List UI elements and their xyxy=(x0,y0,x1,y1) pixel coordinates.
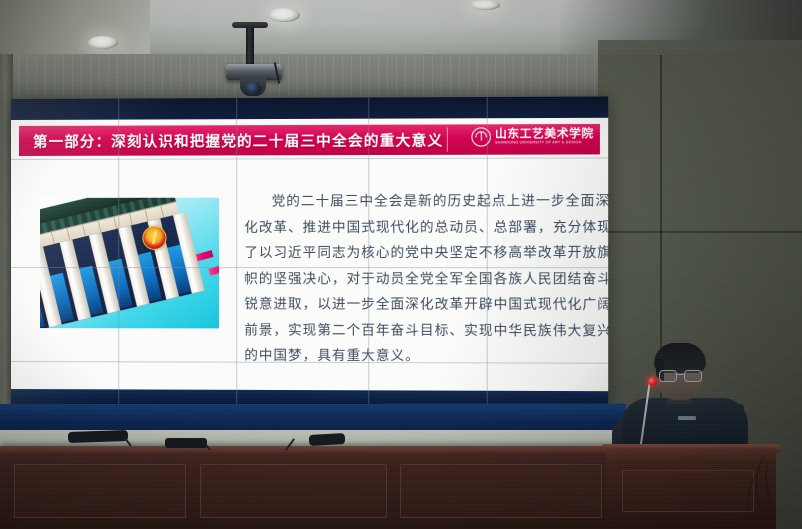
banner-divider xyxy=(447,127,448,151)
desk-microphone-icon xyxy=(165,438,207,448)
slide-body-line: 的中国梦，具有重大意义。 xyxy=(244,344,600,371)
slide-body-line: 党的二十届三中全会是新的历史起点上进一步全面深 xyxy=(244,189,600,215)
led-video-wall[interactable]: 第一部分：深刻认识和把握党的二十届三中全会的重大意义 山东工艺美术学院 SHAN… xyxy=(11,96,608,413)
microphone-indicator-icon xyxy=(648,377,657,386)
laptop-logo-icon xyxy=(678,416,696,420)
university-logo-text: 山东工艺美术学院 SHANDONG UNIVERSITY OF ART & DE… xyxy=(495,128,594,145)
desk-microphone-icon xyxy=(68,430,128,443)
slide-body-line: 前景，实现第二个百年奋斗目标、实现中华民族伟大复兴 xyxy=(244,318,600,345)
slide-body-text: 党的二十届三中全会是新的历史起点上进一步全面深 化改革、推进中国式现代化的总动员… xyxy=(244,189,600,370)
desk-panel xyxy=(14,464,186,518)
glasses-bridge xyxy=(676,374,684,375)
screenshot-stage: 第一部分：深刻认识和把握党的二十届三中全会的重大意义 山东工艺美术学院 SHAN… xyxy=(0,0,802,529)
podium-front-panel xyxy=(622,470,754,512)
glasses-lens-right xyxy=(684,370,702,382)
slide-body-line: 了以习近平同志为核心的党中央坚定不移高举改革开放旗 xyxy=(244,241,600,267)
projector-lens-icon xyxy=(240,78,266,96)
projector-pole xyxy=(246,27,254,67)
ceiling-downlight-icon xyxy=(470,0,500,10)
desk-microphone-icon xyxy=(309,433,346,446)
university-emblem-icon xyxy=(471,127,490,146)
slide-banner: 第一部分：深刻认识和把握党的二十届三中全会的重大意义 山东工艺美术学院 SHAN… xyxy=(19,124,600,156)
slide-banner-title: 第一部分：深刻认识和把握党的二十届三中全会的重大意义 xyxy=(33,129,443,151)
slide-photo-great-hall xyxy=(40,198,219,329)
speaker-glasses-icon xyxy=(659,370,701,380)
ceiling-left-shadow xyxy=(0,0,150,62)
ceiling-downlight-icon xyxy=(88,36,118,49)
university-name-cn: 山东工艺美术学院 xyxy=(495,128,594,140)
slide-body-line: 帜的坚强决心，对于动员全党全军全国各族人民团结奋斗、 xyxy=(244,267,600,293)
front-desk-lip xyxy=(0,446,620,453)
wall-seam xyxy=(598,231,802,233)
university-logo: 山东工艺美术学院 SHANDONG UNIVERSITY OF ART & DE… xyxy=(471,127,593,147)
slide-body-line: 锐意进取，以进一步全面深化改革开辟中国式现代化广阔 xyxy=(244,292,600,318)
glasses-lens-left xyxy=(659,370,677,382)
slide-body-line: 化改革、推进中国式现代化的总动员、总部署，充分体现 xyxy=(244,215,600,241)
speaker-hair xyxy=(654,343,706,373)
ceiling-downlight-icon xyxy=(268,8,300,22)
university-name-en: SHANDONG UNIVERSITY OF ART & DESIGN xyxy=(495,141,594,145)
desk-panel xyxy=(200,464,387,518)
desk-panel xyxy=(400,464,602,518)
presentation-slide: 第一部分：深刻认识和把握党的二十届三中全会的重大意义 山东工艺美术学院 SHAN… xyxy=(11,118,608,394)
